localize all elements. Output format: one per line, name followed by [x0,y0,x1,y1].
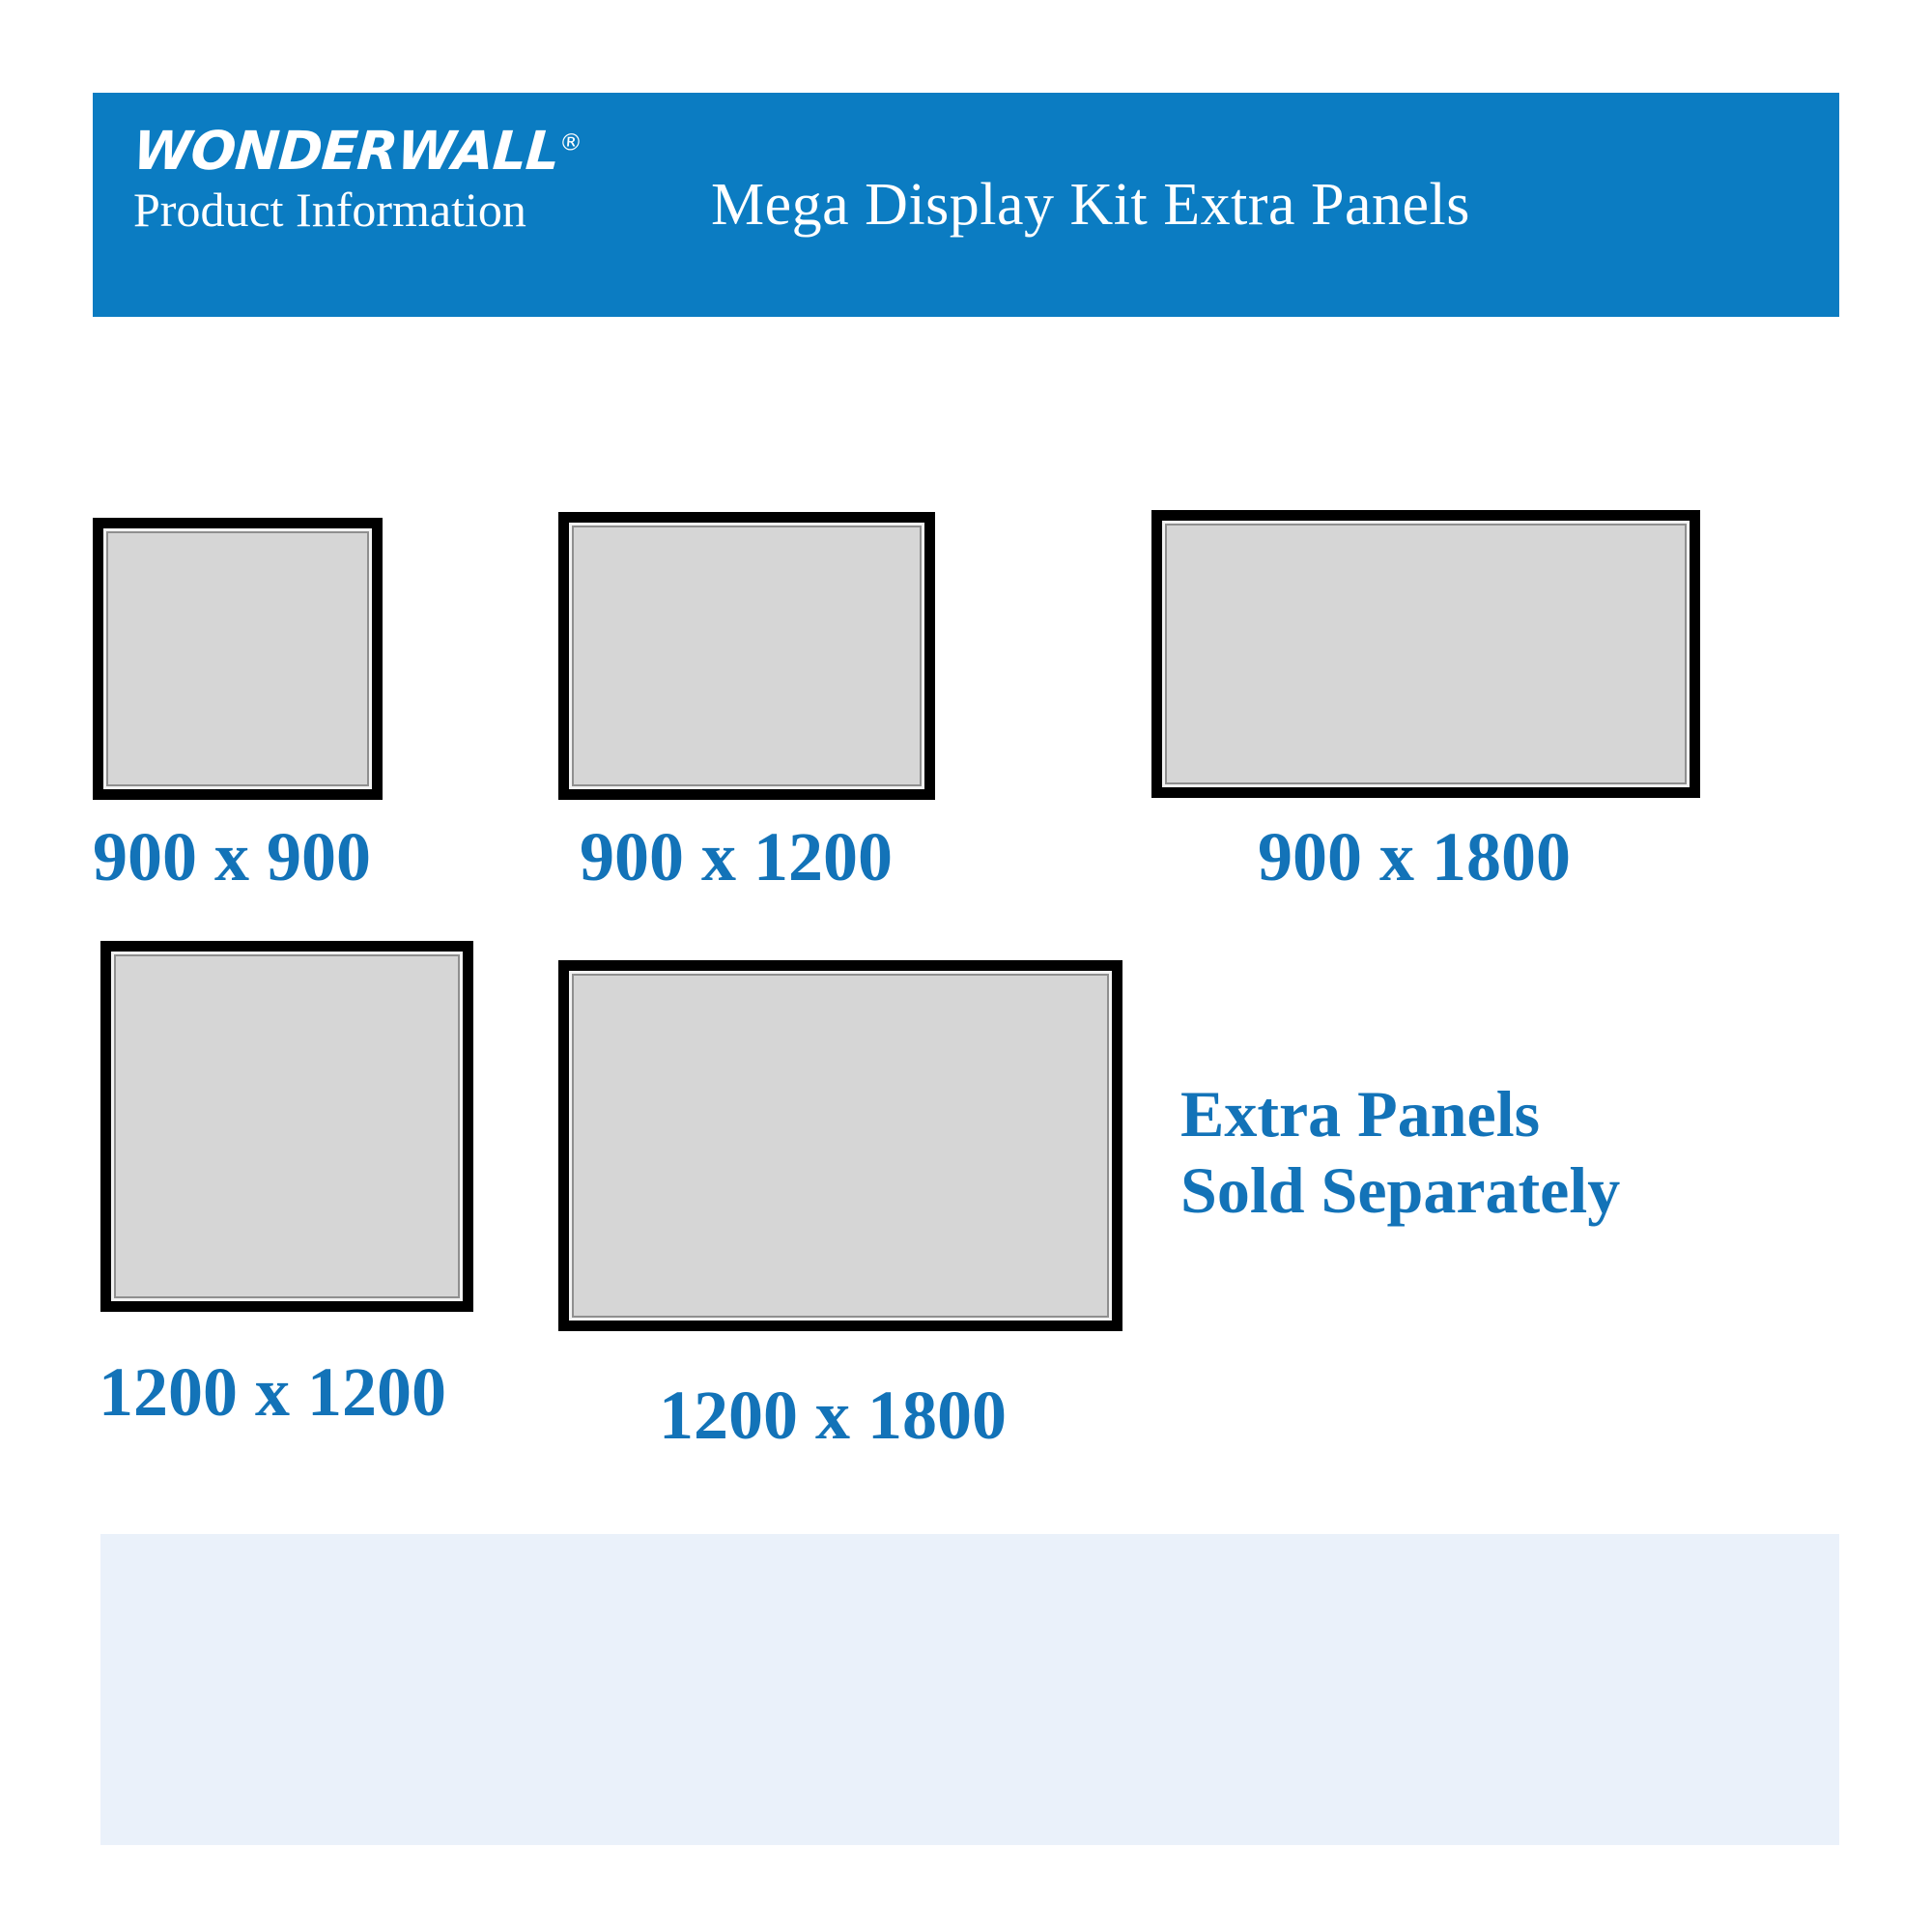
panel-label-1200x1200: 1200 x 1200 [99,1352,446,1433]
brand-name: WONDERWALL [131,120,561,182]
brand-subtitle: Product Information [133,184,636,237]
panel-face [572,974,1109,1318]
page-title: Mega Display Kit Extra Panels [711,93,1839,317]
panel-900x900 [93,518,383,800]
footer-content-box [100,1534,1839,1845]
panel-900x1800 [1151,510,1700,798]
registered-trademark-icon: ® [558,129,583,156]
panel-label-900x1800: 900 x 1800 [1258,817,1571,897]
page-title-text: Mega Display Kit Extra Panels [711,171,1470,240]
brand-logo: WONDERWALL® [131,124,638,178]
panel-frame-gap [569,971,1112,1321]
panel-face [1165,524,1687,784]
panel-label-1200x1800: 1200 x 1800 [659,1376,1007,1456]
product-information-sheet: WONDERWALL® Product Information Mega Dis… [0,0,1932,1932]
panel-frame-gap [1162,521,1690,787]
panel-frame-gap [111,952,463,1301]
panel-frame-gap [103,528,372,789]
panel-frame-gap [569,523,924,789]
brand-block: WONDERWALL® Product Information [133,124,636,237]
panel-face [114,954,460,1298]
panel-label-900x900: 900 x 900 [93,817,371,897]
header-bar: WONDERWALL® Product Information Mega Dis… [93,93,1839,317]
panel-face [572,526,922,786]
panel-900x1200 [558,512,935,800]
note-line-1: Extra Panels [1180,1076,1620,1152]
panel-1200x1200 [100,941,473,1312]
extra-panels-note: Extra Panels Sold Separately [1180,1076,1620,1229]
note-line-2: Sold Separately [1180,1152,1620,1229]
panel-label-900x1200: 900 x 1200 [580,817,893,897]
panel-1200x1800 [558,960,1122,1331]
panel-face [106,531,369,786]
